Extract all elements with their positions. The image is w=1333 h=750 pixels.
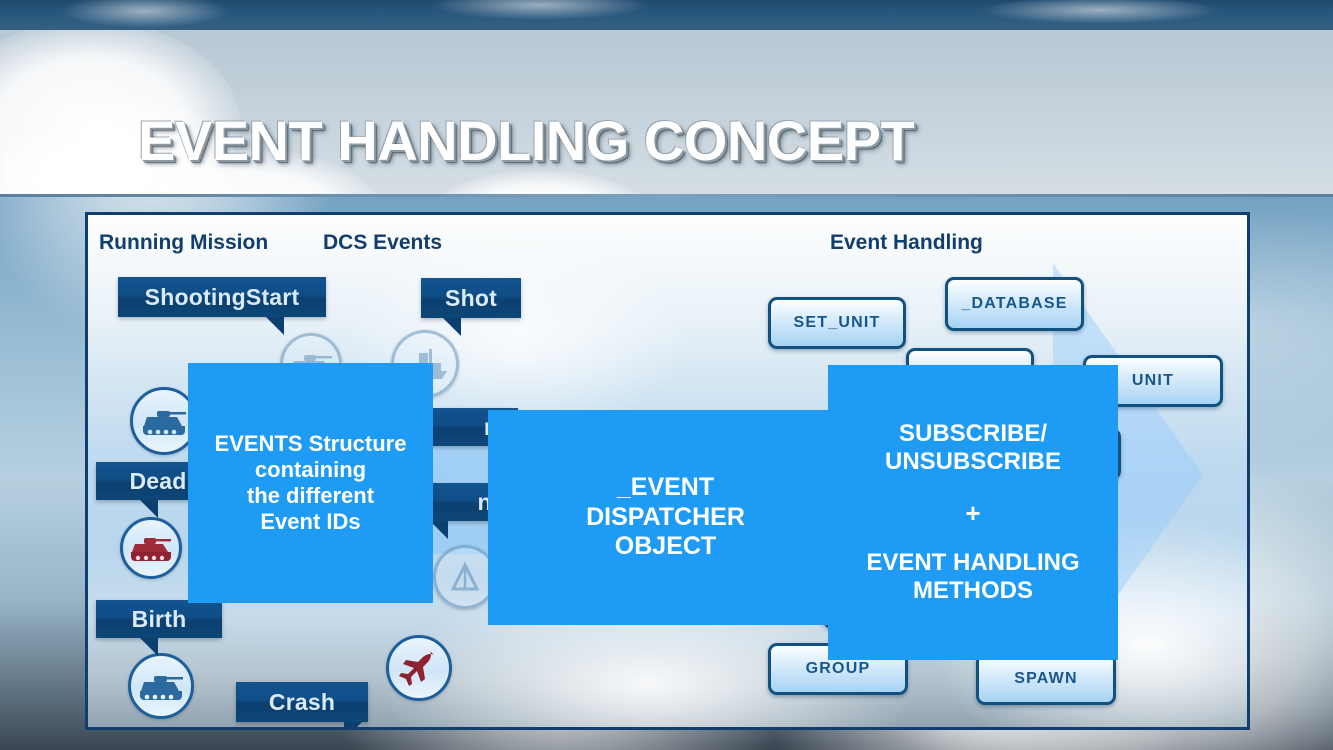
handling-button-database[interactable]: _DATABASE: [945, 277, 1084, 331]
event-chip-label: Shot: [445, 285, 497, 312]
event-chip-label: Dead: [129, 468, 186, 495]
button-label: UNIT: [1132, 372, 1174, 390]
callout-line: METHODS: [913, 577, 1033, 605]
button-label: SET_UNIT: [794, 314, 881, 332]
callout-line: EVENT HANDLING: [866, 549, 1079, 577]
chip-tail: [266, 317, 284, 335]
column-header-running-mission: Running Mission: [99, 231, 268, 255]
banner-divider: [0, 194, 1333, 197]
callout-event-dispatcher-object: _EVENT DISPATCHER OBJECT: [488, 410, 843, 625]
tank-red-icon: [120, 517, 182, 579]
event-chip-shootingstart[interactable]: ShootingStart: [118, 277, 326, 317]
button-label: GROUP: [806, 660, 871, 678]
event-chip-birth[interactable]: Birth: [96, 600, 222, 638]
callout-line: Event IDs: [260, 509, 360, 535]
callout-line: the different: [247, 483, 374, 509]
handling-button-spawn[interactable]: SPAWN: [976, 653, 1116, 705]
chip-tail: [140, 638, 158, 656]
diagram-panel: Running Mission DCS Events Event Handlin…: [85, 212, 1250, 730]
event-chip-shot[interactable]: Shot: [421, 278, 521, 318]
button-label: _DATABASE: [961, 295, 1067, 313]
callout-line: _EVENT: [617, 473, 714, 503]
callout-line: OBJECT: [615, 532, 716, 562]
jet-red-icon: [386, 635, 452, 701]
event-chip-crash[interactable]: Crash: [236, 682, 368, 722]
slide-canvas: EVENT HANDLING CONCEPT Running Mission D…: [0, 0, 1333, 750]
page-title: EVENT HANDLING CONCEPT: [138, 108, 914, 173]
chip-tail: [344, 722, 362, 730]
column-header-event-handling: Event Handling: [830, 231, 983, 255]
chip-tail: [140, 500, 158, 518]
callout-line: DISPATCHER: [586, 503, 745, 533]
chip-tail: [443, 318, 461, 336]
callout-line: SUBSCRIBE/: [899, 420, 1047, 448]
callout-events-structure: EVENTS Structure containing the differen…: [188, 363, 433, 603]
column-header-dcs-events: DCS Events: [323, 231, 442, 255]
button-label: SPAWN: [1014, 670, 1077, 688]
sky-strip: [0, 0, 1333, 30]
handling-button-set-unit[interactable]: SET_UNIT: [768, 297, 906, 349]
event-chip-label: Crash: [269, 689, 335, 716]
callout-line: containing: [255, 457, 366, 483]
tank-icon: [128, 653, 194, 719]
callout-subscribe-methods: SUBSCRIBE/ UNSUBSCRIBE + EVENT HANDLING …: [828, 365, 1118, 660]
callout-line: EVENTS Structure: [215, 431, 407, 457]
event-chip-label: ShootingStart: [145, 284, 300, 311]
event-chip-label: Birth: [132, 606, 187, 633]
title-banner: EVENT HANDLING CONCEPT: [0, 30, 1333, 197]
callout-plus-sign: +: [965, 498, 980, 529]
callout-line: UNSUBSCRIBE: [885, 448, 1061, 476]
